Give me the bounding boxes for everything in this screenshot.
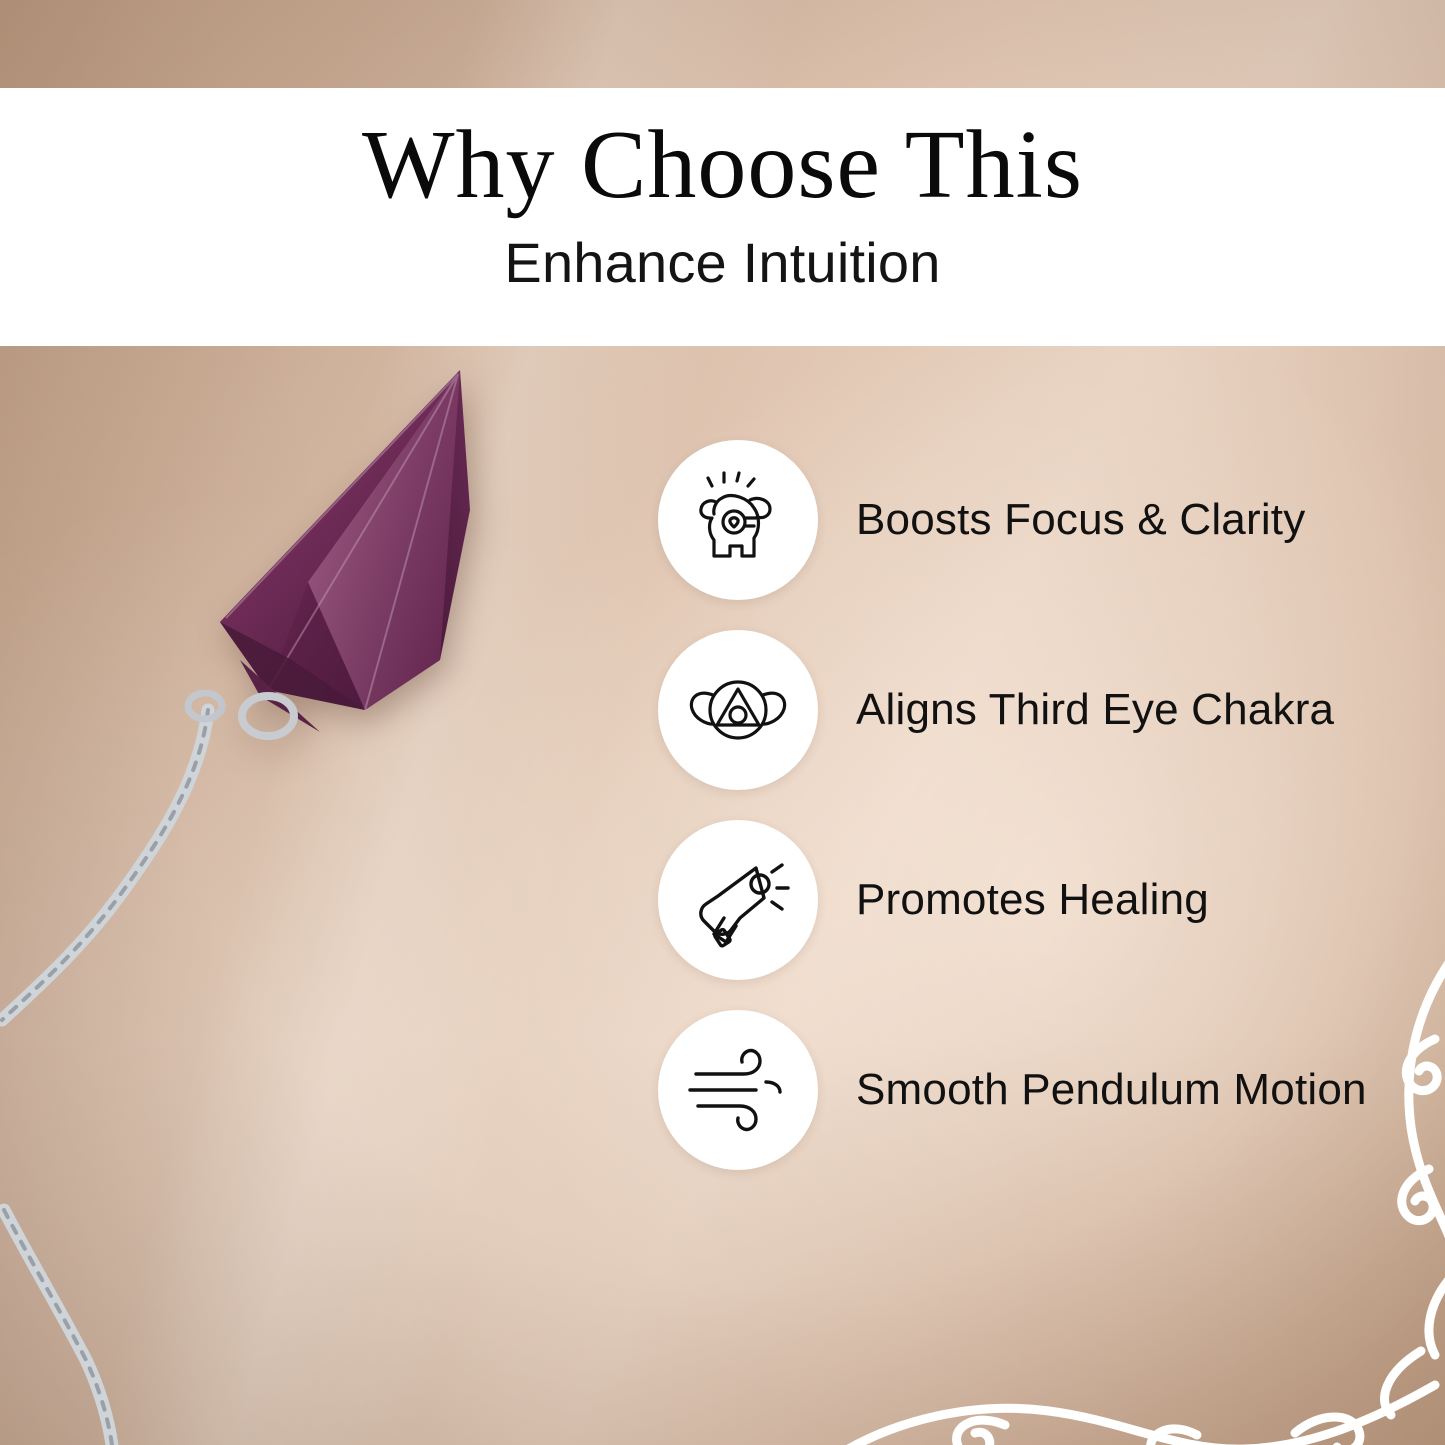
list-item: Aligns Third Eye Chakra	[658, 630, 1418, 790]
wind-motion-icon	[682, 1034, 794, 1146]
brain-focus-icon	[686, 468, 790, 572]
feature-label: Aligns Third Eye Chakra	[856, 681, 1334, 738]
feature-label: Boosts Focus & Clarity	[856, 491, 1305, 548]
feature-icon-circle	[658, 820, 818, 980]
list-item: Promotes Healing	[658, 820, 1418, 980]
feature-icon-circle	[658, 440, 818, 600]
feature-label: Smooth Pendulum Motion	[856, 1061, 1367, 1118]
third-eye-chakra-icon	[683, 655, 793, 765]
page-title: Why Choose This	[362, 116, 1083, 216]
page-subtitle: Enhance Intuition	[504, 230, 940, 295]
feature-icon-circle	[658, 1010, 818, 1170]
megaphone-icon	[684, 846, 792, 954]
feature-icon-circle	[658, 630, 818, 790]
list-item: Smooth Pendulum Motion	[658, 1010, 1418, 1170]
feature-label: Promotes Healing	[856, 871, 1209, 928]
feature-list: Boosts Focus & Clarity Aligns Third Eye …	[658, 440, 1418, 1200]
amethyst-crystal	[140, 360, 500, 760]
list-item: Boosts Focus & Clarity	[658, 440, 1418, 600]
product-feature-graphic: Why Choose This Enhance Intuition	[0, 0, 1445, 1445]
header-band: Why Choose This Enhance Intuition	[0, 88, 1445, 346]
